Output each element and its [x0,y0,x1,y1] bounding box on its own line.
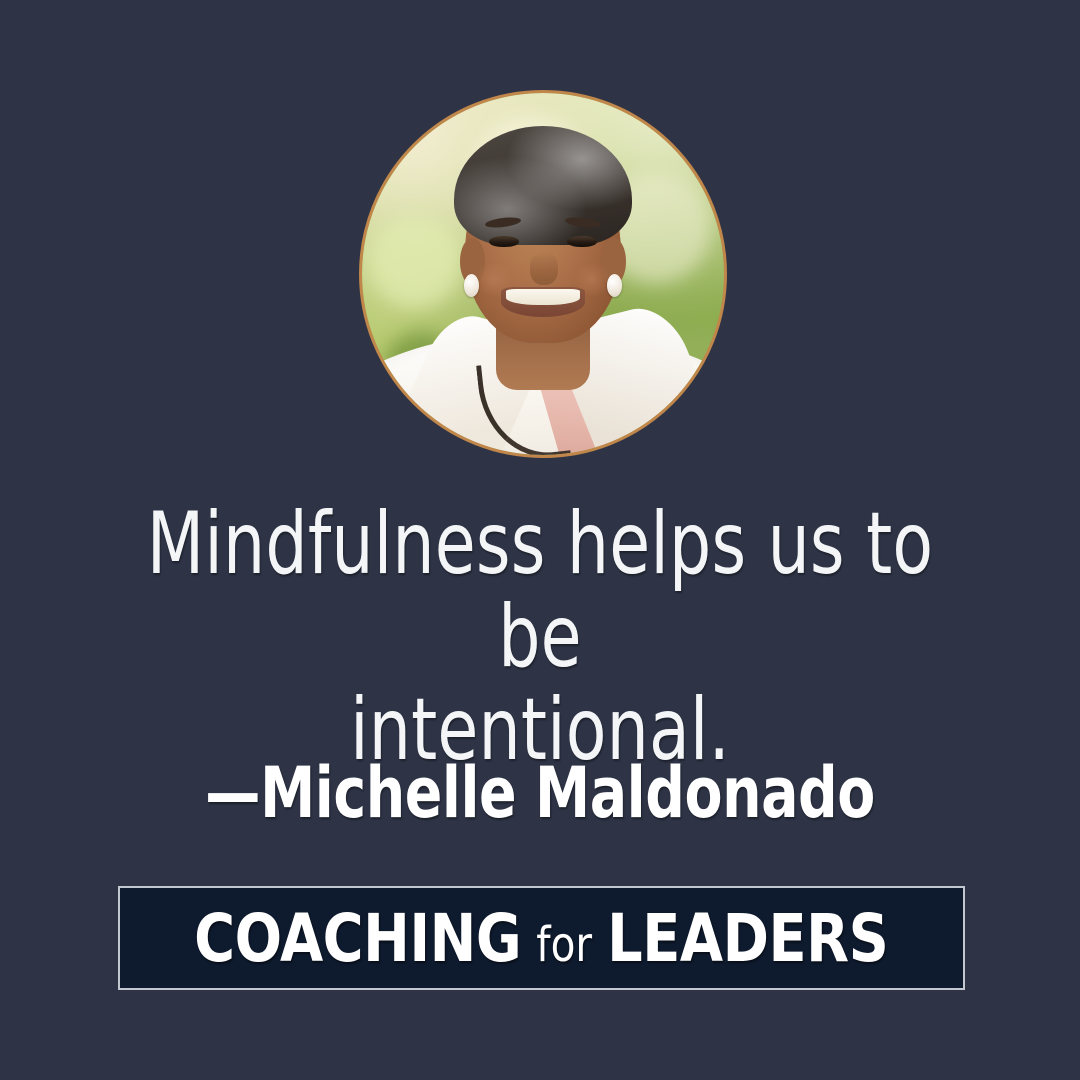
eye-left [489,236,519,247]
earring-right [607,274,622,297]
quote-attribution: —Michelle Maldonado [118,758,963,828]
logo-word-coaching: COACHING [194,900,521,977]
nose [530,252,558,285]
logo-word-leaders: LEADERS [607,900,888,977]
portrait-image [362,93,724,455]
brand-logo-bar: COACHING for LEADERS [118,886,965,990]
quote-card: Mindfulness helps us to be intentional. … [0,0,1080,1080]
bokeh-highlight [369,216,461,308]
logo-word-for: for [537,917,593,973]
quote-text: Mindfulness helps us to be intentional. [127,498,953,777]
brand-logo-text: COACHING for LEADERS [194,900,888,977]
mouth [501,287,584,317]
speaker-portrait [359,90,727,458]
eye-right [567,236,597,247]
teeth [506,289,579,305]
